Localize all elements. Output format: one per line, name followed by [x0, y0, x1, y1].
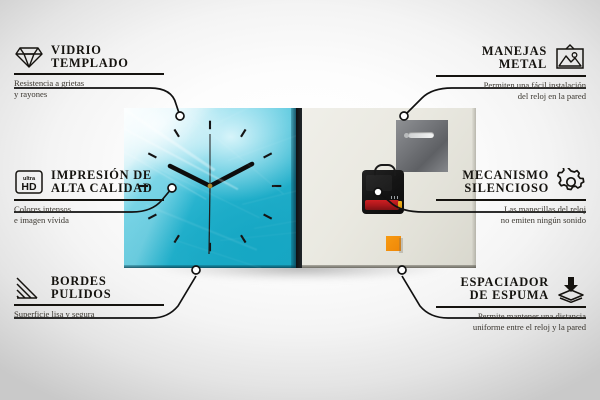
infographic-canvas: VIDRIO TEMPLADO Resistencia a grietas y …: [0, 0, 600, 400]
feature-tempered-glass: VIDRIO TEMPLADO Resistencia a grietas y …: [14, 44, 164, 100]
feature-foam-spacer: ESPACIADOR DE ESPUMA Permite mantener un…: [436, 275, 586, 333]
feature-subtitle-line-1: Permiten una fácil instalación: [436, 80, 586, 91]
feature-title-line-2: METAL: [482, 58, 547, 71]
feature-rule: [436, 75, 586, 77]
feature-subtitle-line-2: e imagen vívida: [14, 215, 164, 226]
marker-polished-edges: [192, 266, 200, 274]
feature-hd-print: ultra HD IMPRESIÓN DE ALTA CALIDAD Color…: [14, 168, 164, 226]
feature-subtitle-line-2: no emiten ningún sonido: [436, 215, 586, 226]
feature-subtitle-line-1: Colores intensos: [14, 204, 164, 215]
feature-rule: [436, 199, 586, 201]
feature-header: BORDES PULIDOS: [14, 275, 164, 301]
polished-edges-icon: [14, 275, 44, 301]
feature-subtitle-line-1: Superficie lisa y segura: [14, 309, 164, 320]
marker-hd-print: [168, 184, 176, 192]
feature-header: MANEJAS METAL: [436, 44, 586, 72]
gear-icon: [556, 168, 586, 196]
feature-subtitle-line-2: uniforme entre el reloj y la pared: [436, 322, 586, 333]
arrow-down-onto-layers-icon: [556, 275, 586, 303]
diamond-icon: [14, 44, 44, 70]
feature-header: ESPACIADOR DE ESPUMA: [436, 275, 586, 303]
feature-polished-edges: BORDES PULIDOS Superficie lisa y segura: [14, 275, 164, 320]
marker-foam-spacer: [398, 266, 406, 274]
feature-titles: VIDRIO TEMPLADO: [51, 44, 129, 70]
feature-subtitle-line-1: Resistencia a grietas: [14, 78, 164, 89]
feature-title-line-2: SILENCIOSO: [462, 182, 549, 195]
feature-title-line-2: DE ESPUMA: [460, 289, 549, 302]
feature-title-line-2: TEMPLADO: [51, 57, 129, 70]
feature-subtitle-line-2: del reloj en la pared: [436, 91, 586, 102]
feature-header: ultra HD IMPRESIÓN DE ALTA CALIDAD: [14, 168, 164, 196]
feature-header: MECANISMO SILENCIOSO: [436, 168, 586, 196]
feature-titles: BORDES PULIDOS: [51, 275, 111, 301]
feature-rule: [14, 199, 164, 201]
feature-metal-handles: MANEJAS METAL Permiten una fácil instala…: [436, 44, 586, 102]
feature-titles: MECANISMO SILENCIOSO: [462, 169, 549, 195]
feature-titles: ESPACIADOR DE ESPUMA: [460, 276, 549, 302]
feature-title-line-2: ALTA CALIDAD: [51, 182, 153, 195]
ultra-hd-icon-large-label: HD: [21, 181, 37, 193]
feature-subtitle-line-1: Las manecillas del reloj: [436, 204, 586, 215]
feature-titles: MANEJAS METAL: [482, 45, 547, 71]
picture-frame-hanger-icon: [554, 44, 586, 72]
feature-rule: [436, 306, 586, 308]
feature-subtitle-line-2: y rayones: [14, 89, 164, 100]
marker-metal-handles: [400, 112, 408, 120]
feature-rule: [14, 304, 164, 306]
marker-silent-mechanism: [374, 188, 382, 196]
feature-title-line-2: PULIDOS: [51, 288, 111, 301]
feature-subtitle-line-1: Permite mantener una distancia: [436, 311, 586, 322]
feature-rule: [14, 73, 164, 75]
ultra-hd-icon: ultra HD: [14, 168, 44, 196]
marker-tempered-glass: [176, 112, 184, 120]
feature-silent-mechanism: MECANISMO SILENCIOSO Las manecillas del …: [436, 168, 586, 226]
feature-titles: IMPRESIÓN DE ALTA CALIDAD: [51, 169, 153, 195]
feature-header: VIDRIO TEMPLADO: [14, 44, 164, 70]
